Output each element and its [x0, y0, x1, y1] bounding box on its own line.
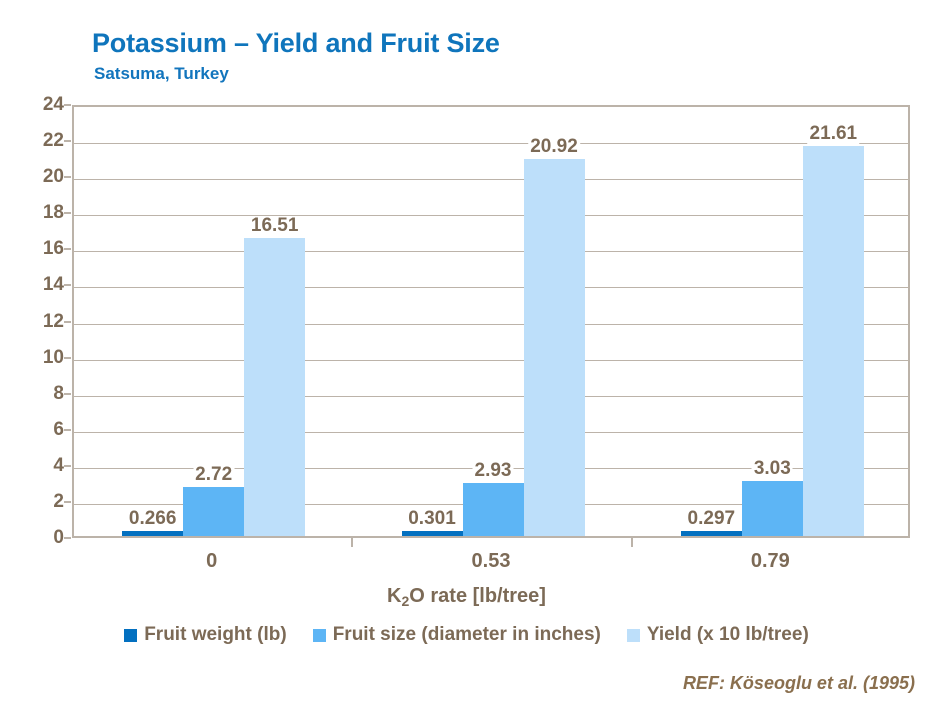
y-axis-tick-mark	[64, 248, 71, 250]
reference-note: REF: Köseoglu et al. (1995)	[683, 673, 915, 694]
legend-swatch-icon	[627, 629, 640, 642]
bar	[524, 159, 585, 536]
x-axis-title: K2O rate [lb/tree]	[0, 585, 933, 608]
gridline	[74, 215, 908, 216]
bar	[244, 238, 305, 536]
gridline	[74, 143, 908, 144]
bar	[402, 531, 463, 536]
y-axis-tick-mark	[64, 429, 71, 431]
legend-label: Fruit size (diameter in inches)	[333, 624, 601, 646]
y-axis-tick-mark	[64, 465, 71, 467]
y-axis-tick-marks	[0, 105, 72, 538]
gridline	[74, 324, 908, 325]
x-axis-tick-mark	[351, 538, 353, 547]
bar-value-label: 20.92	[528, 137, 580, 157]
bar	[122, 531, 183, 536]
gridline	[74, 179, 908, 180]
bar-value-label: 2.93	[473, 461, 514, 481]
bar-value-label: 0.266	[127, 509, 179, 529]
legend-item[interactable]: Fruit size (diameter in inches)	[313, 624, 601, 646]
bar	[742, 481, 803, 536]
chart-subtitle: Satsuma, Turkey	[94, 64, 229, 84]
chart-container: Potassium – Yield and Fruit Size Satsuma…	[0, 0, 933, 710]
y-axis-tick-mark	[64, 321, 71, 323]
y-axis-tick-mark	[64, 212, 71, 214]
gridline	[74, 360, 908, 361]
bar	[183, 487, 244, 536]
bar-value-label: 21.61	[808, 124, 860, 144]
y-axis-tick-mark	[64, 357, 71, 359]
bar	[463, 483, 524, 536]
y-axis-tick-mark	[64, 140, 71, 142]
chart-legend: Fruit weight (lb)Fruit size (diameter in…	[0, 624, 933, 646]
legend-swatch-icon	[313, 629, 326, 642]
x-axis-tick-mark	[631, 538, 633, 547]
chart-title: Potassium – Yield and Fruit Size	[92, 28, 500, 59]
bar-value-label: 16.51	[249, 216, 301, 236]
x-axis-tick-label: 0	[206, 550, 217, 573]
bar-value-label: 0.297	[686, 509, 738, 529]
y-axis-tick-mark	[64, 104, 71, 106]
legend-swatch-icon	[124, 629, 137, 642]
y-axis-tick-mark	[64, 393, 71, 395]
bar-value-label: 0.301	[406, 509, 458, 529]
legend-item[interactable]: Yield (x 10 lb/tree)	[627, 624, 809, 646]
y-axis-tick-mark	[64, 284, 71, 286]
x-axis-title-subscript: 2	[401, 593, 409, 609]
x-axis-labels: 00.530.79	[72, 550, 910, 580]
y-axis-tick-mark	[64, 537, 71, 539]
bar	[681, 531, 742, 536]
x-axis-tick-marks	[72, 538, 910, 548]
bar	[803, 146, 864, 536]
x-axis-tick-label: 0.79	[751, 550, 790, 573]
bar-value-label: 3.03	[752, 459, 793, 479]
x-axis-tick-label: 0.53	[472, 550, 511, 573]
gridline	[74, 396, 908, 397]
y-axis-tick-mark	[64, 176, 71, 178]
bar-value-label: 2.72	[193, 465, 234, 485]
plot-area: 0.2662.7216.510.3012.9320.920.2973.0321.…	[72, 105, 910, 538]
legend-label: Yield (x 10 lb/tree)	[647, 624, 809, 646]
legend-label: Fruit weight (lb)	[144, 624, 286, 646]
legend-item[interactable]: Fruit weight (lb)	[124, 624, 286, 646]
y-axis-tick-mark	[64, 501, 71, 503]
gridline	[74, 432, 908, 433]
gridline	[74, 251, 908, 252]
gridline	[74, 287, 908, 288]
